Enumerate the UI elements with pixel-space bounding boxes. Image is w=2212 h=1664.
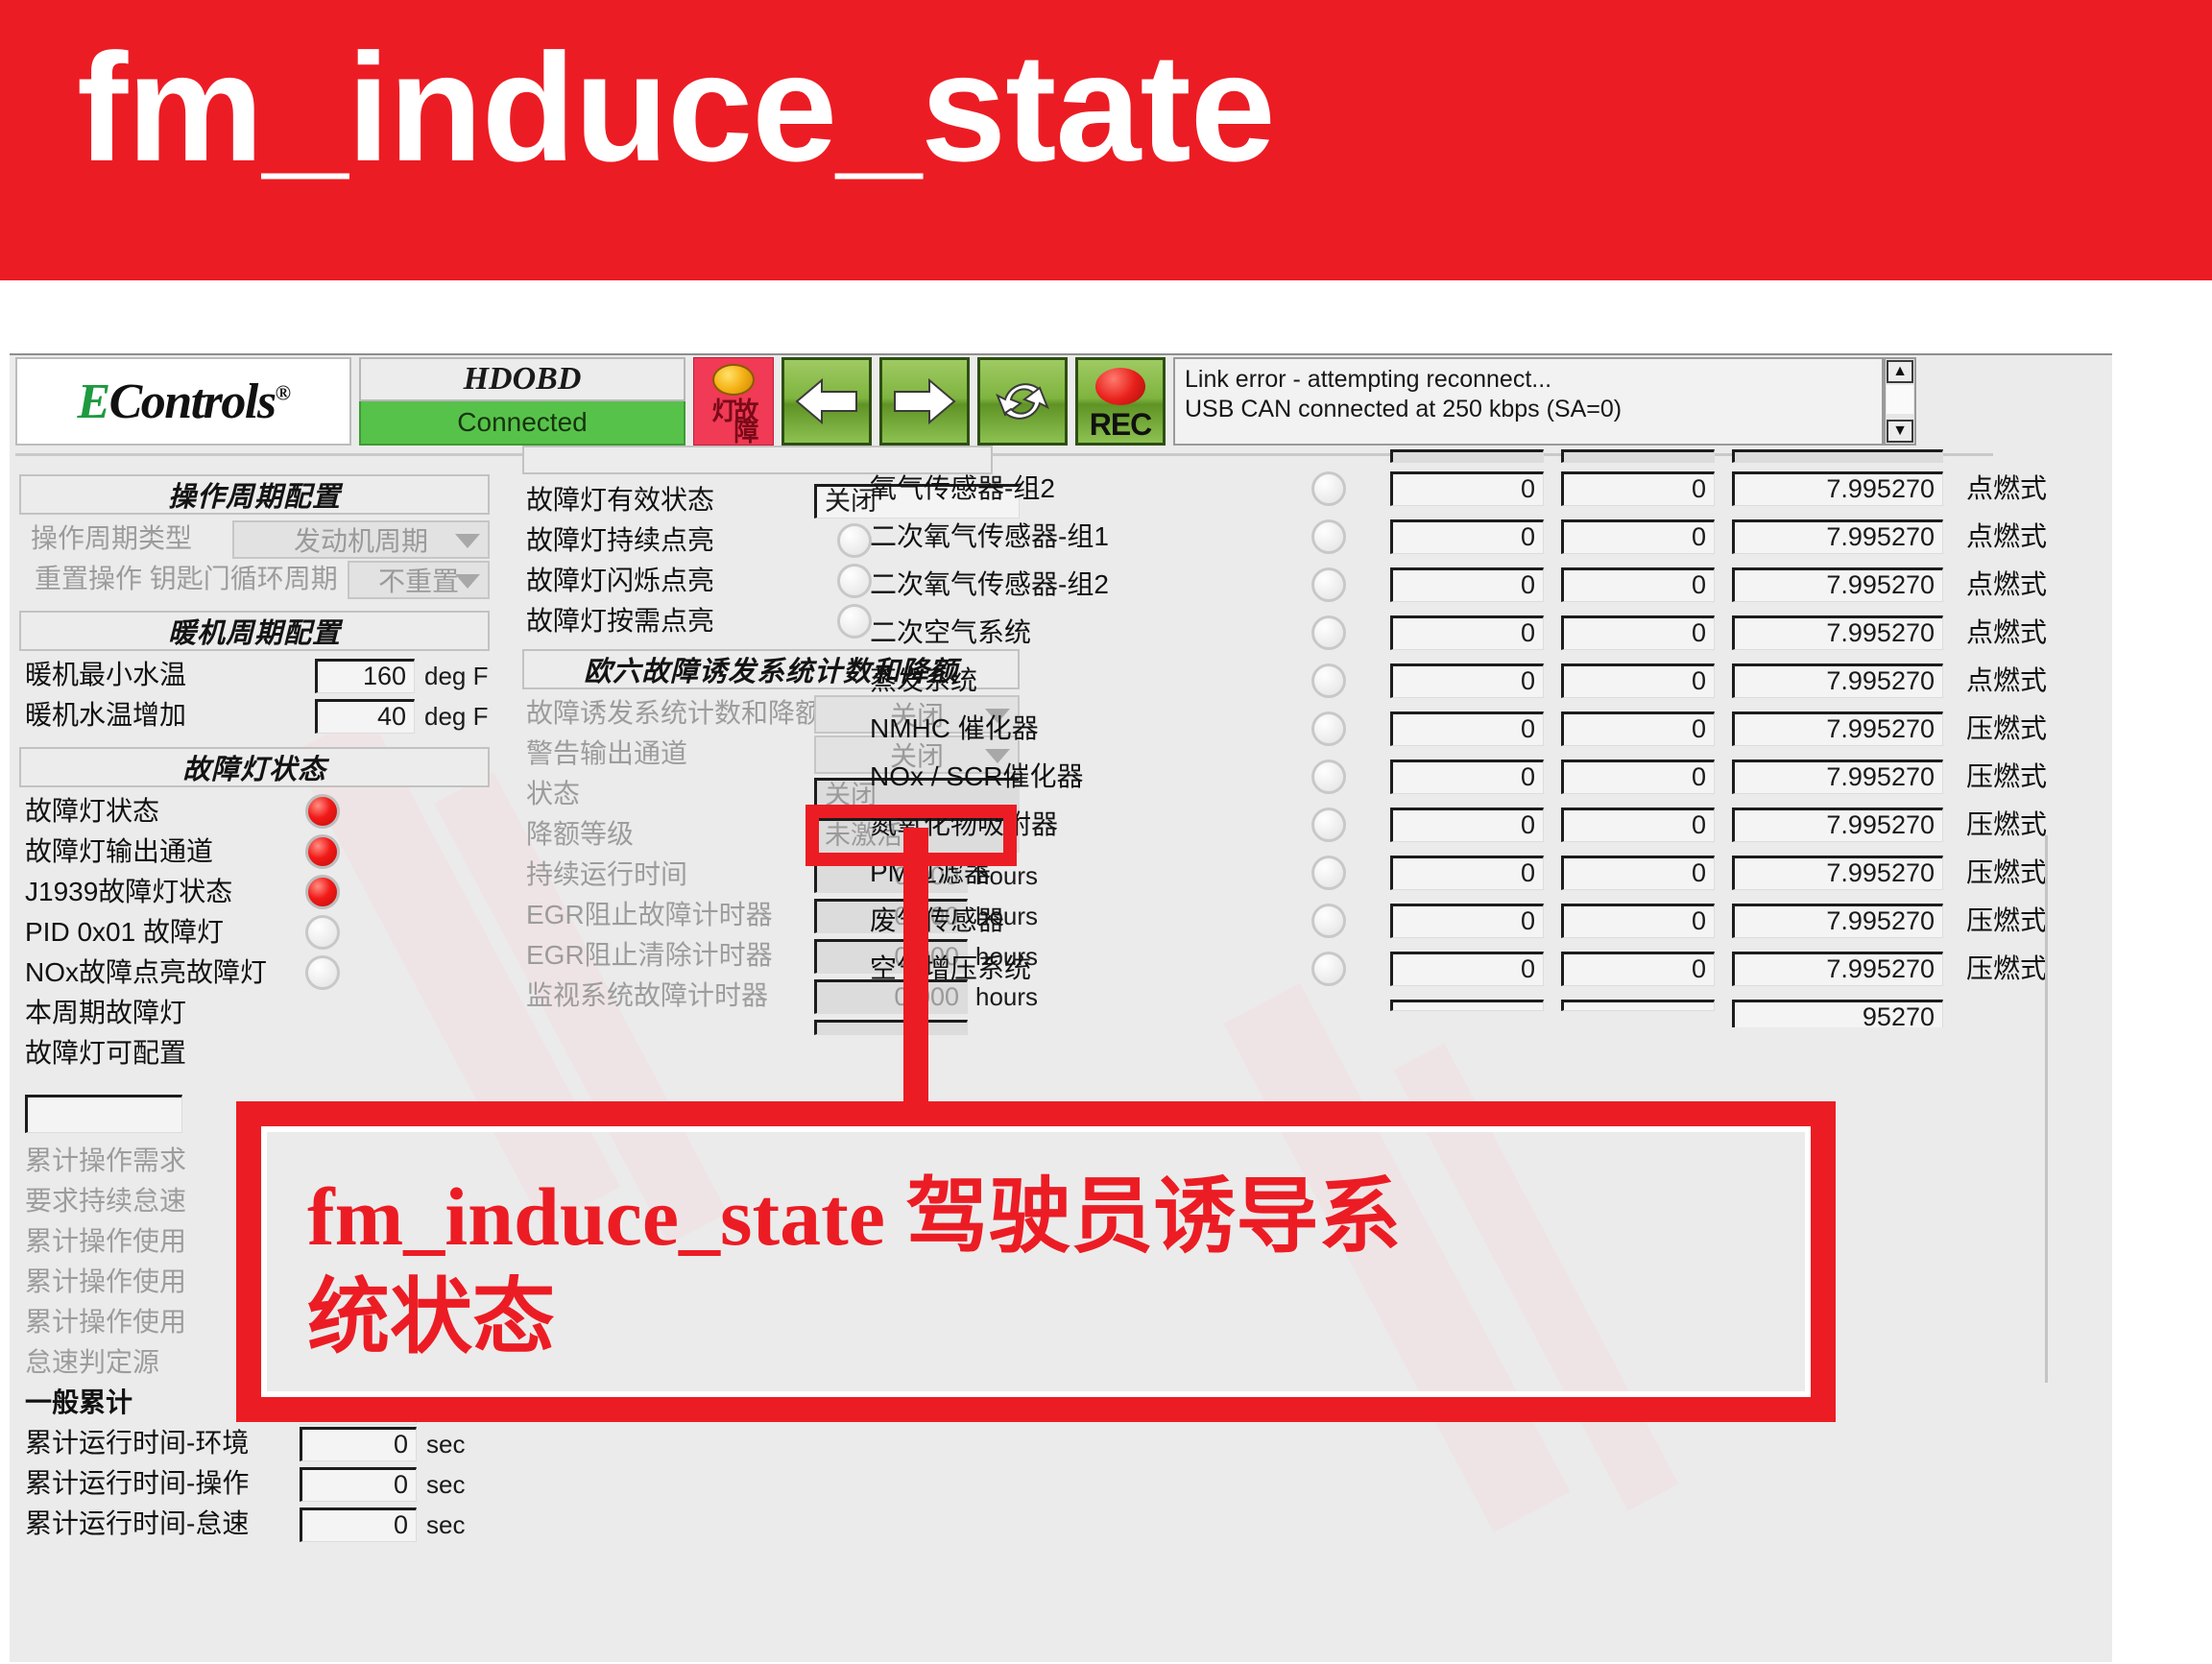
sensor-partial-input	[1390, 449, 1544, 463]
table-row: NMHC 催化器 0 0 7.995270 压燃式	[870, 705, 1964, 753]
sensor-count-2[interactable]: 0	[1561, 471, 1715, 506]
sensor-fuel-type: 压燃式	[1966, 753, 2047, 801]
mil-blink-led	[837, 564, 872, 598]
left-blank-input[interactable]	[25, 1095, 182, 1133]
sensor-fuel-type: 点燃式	[1966, 609, 2047, 657]
cumulative-label: 累计操作使用	[25, 1262, 186, 1302]
sensor-name: 二次氧气传感器-组1	[870, 513, 1109, 561]
sensor-count-1[interactable]: 0	[1390, 904, 1544, 938]
mil-row-label: 故障灯状态	[25, 791, 159, 832]
sensor-partial-input	[1561, 449, 1715, 463]
warn-output-channel-label: 警告输出通道	[526, 734, 687, 774]
record-button[interactable]: REC	[1075, 357, 1166, 446]
sensor-count-1[interactable]: 0	[1390, 808, 1544, 842]
annotation-line-2: 统状态	[307, 1267, 1805, 1368]
panel-divider	[2045, 835, 2048, 1383]
sensor-table: 氧气传感器-组2 0 0 7.995270 点燃式 二次氧气传感器-组1 0 0…	[870, 457, 2108, 1052]
table-row: 空气增压系统 0 0 7.995270 压燃式	[870, 945, 1964, 993]
timer-unit: sec	[426, 1507, 465, 1542]
sensor-status-led	[1311, 567, 1346, 602]
sensor-count-1[interactable]: 0	[1390, 567, 1544, 602]
annotation-line-1: fm_induce_state 驾驶员诱导系	[307, 1167, 1805, 1267]
timer-input[interactable]: 0	[300, 1467, 417, 1502]
sensor-status-led	[1311, 760, 1346, 794]
mil-row-label: NOx故障点亮故障灯	[25, 953, 267, 993]
sensor-ratio[interactable]: 7.995270	[1732, 952, 1943, 986]
timer-input[interactable]: 0	[300, 1507, 417, 1542]
sensor-name: NMHC 催化器	[870, 705, 1039, 753]
sensor-status-led	[1311, 471, 1346, 506]
drive-cycle-type-select[interactable]: 发动机周期	[232, 520, 490, 559]
sensor-fuel-type: 点燃式	[1966, 561, 2047, 609]
timer-unit: sec	[426, 1467, 465, 1502]
table-row: 废气传感器 0 0 7.995270 压燃式	[870, 897, 1964, 945]
connection-state-label: Connected	[359, 401, 685, 446]
refresh-icon	[992, 371, 1053, 432]
sensor-status-led	[1311, 615, 1346, 650]
mil-steady-label: 故障灯持续点亮	[526, 520, 714, 561]
mil-lamp-icon	[712, 364, 755, 396]
annotation-text: fm_induce_state 驾驶员诱导系 统状态	[307, 1167, 1805, 1368]
sensor-ratio[interactable]: 7.995270	[1732, 615, 1943, 650]
sensor-fuel-type: 点燃式	[1966, 465, 2047, 513]
sensor-ratio[interactable]: 7.995270	[1732, 808, 1943, 842]
annotation-callout: fm_induce_state 驾驶员诱导系 统状态	[236, 1101, 1836, 1422]
sensor-count-1[interactable]: 0	[1390, 711, 1544, 746]
sensor-fuel-type: 压燃式	[1966, 801, 2047, 849]
induce-state-label: 状态	[526, 774, 580, 814]
mil-row-led	[305, 794, 340, 829]
forward-button[interactable]	[879, 357, 970, 446]
timer-input[interactable]: 0	[300, 1427, 417, 1461]
mil-blink-label: 故障灯闪烁点亮	[526, 561, 714, 601]
mil-steady-led	[837, 523, 872, 558]
warmup-min-temp-unit: deg F	[424, 659, 489, 693]
sensor-status-led	[1311, 952, 1346, 986]
sensor-count-2[interactable]: 0	[1561, 904, 1715, 938]
general-cumulative-label: 一般累计	[25, 1383, 132, 1423]
hour-row-label: 监视系统故障计时器	[526, 976, 768, 1016]
mil-row-label: 故障灯输出通道	[25, 832, 213, 872]
hour-row-label: EGR阻止清除计时器	[526, 935, 773, 976]
sensor-fuel-type: 压燃式	[1966, 945, 2047, 993]
warmup-min-temp-label: 暖机最小水温	[25, 655, 186, 695]
scroll-down-icon[interactable]: ▼	[1887, 420, 1913, 443]
timer-label: 累计运行时间-操作	[25, 1463, 249, 1504]
hour-row-label: 持续运行时间	[526, 855, 687, 895]
hour-row-label: EGR阻止故障计时器	[526, 895, 773, 935]
record-dot-icon	[1095, 368, 1145, 405]
sensor-count-1[interactable]: 0	[1390, 519, 1544, 554]
application-window: EControls® HDOBD Connected 故障灯	[10, 353, 2112, 1662]
sensor-count-1[interactable]: 0	[1390, 471, 1544, 506]
mil-ondemand-label: 故障灯按需点亮	[526, 601, 714, 641]
warmup-min-temp-input[interactable]: 160	[315, 659, 415, 693]
mil-lamp-button[interactable]: 故障灯	[693, 357, 774, 446]
econtrols-logo: EControls®	[15, 357, 351, 446]
sensor-count-1[interactable]: 0	[1390, 856, 1544, 890]
mil-row-label: J1939故障灯状态	[25, 872, 232, 912]
table-row: 氮氧化物吸附器 0 0 7.995270 压燃式	[870, 801, 1964, 849]
sensor-fuel-type: 压燃式	[1966, 897, 2047, 945]
group-header-warmup: 暖机周期配置	[19, 611, 490, 651]
sensor-count-2[interactable]: 0	[1561, 567, 1715, 602]
table-row: 二次空气系统 0 0 7.995270 点燃式	[870, 609, 1964, 657]
group-header-mil-status: 故障灯状态	[19, 747, 490, 787]
protocol-label: HDOBD	[359, 357, 685, 401]
cumulative-label: 要求持续怠速	[25, 1181, 186, 1221]
sensor-name: 蒸发系统	[870, 657, 977, 705]
timer-unit: sec	[426, 1427, 465, 1461]
content-area: 操作周期配置 操作周期类型 发动机周期 重置操作 钥匙门循环周期 不重置 暖机周…	[10, 457, 2112, 1664]
cumulative-label: 累计操作使用	[25, 1302, 186, 1342]
mil-row-led	[305, 834, 340, 869]
sensor-count-2-partial	[1561, 1000, 1715, 1011]
table-row: PM过滤器 0 0 7.995270 压燃式	[870, 849, 1964, 897]
sensor-fuel-type: 压燃式	[1966, 705, 2047, 753]
mil-row-led	[305, 955, 340, 990]
page-title: fm_induce_state	[77, 23, 1275, 192]
sensor-ratio[interactable]: 7.995270	[1732, 663, 1943, 698]
chevron-down-icon	[455, 534, 480, 548]
warmup-temp-rise-label: 暖机水温增加	[25, 695, 186, 736]
sensor-status-led	[1311, 663, 1346, 698]
sensor-count-1[interactable]: 0	[1390, 663, 1544, 698]
derate-level-label: 降额等级	[526, 814, 634, 855]
sensor-count-1[interactable]: 0	[1390, 760, 1544, 794]
sensor-name: 废气传感器	[870, 897, 1004, 945]
sensor-name: 二次氧气传感器-组2	[870, 561, 1109, 609]
table-row: 二次氧气传感器-组1 0 0 7.995270 点燃式	[870, 513, 1964, 561]
timer-label: 累计运行时间-环境	[25, 1423, 249, 1463]
mil-row-label: PID 0x01 故障灯	[25, 912, 224, 953]
sensor-count-2[interactable]: 0	[1561, 519, 1715, 554]
sensor-count-1[interactable]: 0	[1390, 952, 1544, 986]
sensor-count-2[interactable]: 0	[1561, 952, 1715, 986]
sensor-count-2[interactable]: 0	[1561, 856, 1715, 890]
sensor-ratio[interactable]: 7.995270	[1732, 856, 1943, 890]
sensor-ratio[interactable]: 7.995270	[1732, 711, 1943, 746]
mil-row-led	[305, 875, 340, 909]
scrollbar-thumb[interactable]	[1887, 385, 1913, 414]
table-row: NOx / SCR催化器 0 0 7.995270 压燃式	[870, 753, 1964, 801]
connection-status-panel: HDOBD Connected	[359, 357, 685, 446]
sensor-ratio[interactable]: 7.995270	[1732, 567, 1943, 602]
table-row: 蒸发系统 0 0 7.995270 点燃式	[870, 657, 1964, 705]
sensor-status-led	[1311, 904, 1346, 938]
refresh-button[interactable]	[977, 357, 1068, 446]
sensor-status-led	[1311, 519, 1346, 554]
back-button[interactable]	[781, 357, 872, 446]
mil-row-label: 故障灯可配置	[25, 1033, 186, 1073]
logo-text: EControls®	[77, 374, 289, 430]
sensor-status-led	[1311, 856, 1346, 890]
arrow-left-icon	[793, 376, 860, 426]
sensor-ratio-partial: 95270	[1732, 1000, 1943, 1027]
table-row: 氧气传感器-组2 0 0 7.995270 点燃式	[870, 465, 1964, 513]
sensor-fuel-type: 压燃式	[1966, 849, 2047, 897]
mil-active-state-label: 故障灯有效状态	[526, 480, 714, 520]
sensor-ratio[interactable]: 7.995270	[1732, 471, 1943, 506]
sensor-count-2[interactable]: 0	[1561, 615, 1715, 650]
status-log: Link error - attempting reconnect... USB…	[1173, 357, 1884, 446]
sensor-count-2[interactable]: 0	[1561, 711, 1715, 746]
toolbar: EControls® HDOBD Connected 故障灯	[10, 355, 1987, 451]
mil-button-label: 故障灯	[711, 398, 756, 445]
sensor-count-2[interactable]: 0	[1561, 663, 1715, 698]
reset-drive-cycle-value: 不重置	[378, 561, 459, 599]
warmup-temp-rise-unit: deg F	[424, 699, 489, 734]
sensor-count-1-partial	[1390, 1000, 1544, 1011]
sensor-name: 空气增压系统	[870, 945, 1031, 993]
sensor-partial-input	[1732, 449, 1943, 463]
arrow-right-icon	[891, 376, 958, 426]
cumulative-label: 累计操作需求	[25, 1141, 186, 1181]
cumulative-label: 怠速判定源	[25, 1342, 159, 1383]
sensor-ratio[interactable]: 7.995270	[1732, 519, 1943, 554]
sensor-ratio[interactable]: 7.995270	[1732, 760, 1943, 794]
mil-row-led	[305, 915, 340, 950]
highlight-box-induce-state	[805, 805, 1017, 866]
reset-drive-cycle-select[interactable]: 不重置	[348, 561, 490, 599]
warmup-temp-rise-input[interactable]: 40	[315, 699, 415, 734]
cumulative-label: 累计操作使用	[25, 1221, 186, 1262]
sensor-name: 氧气传感器-组2	[870, 465, 1055, 513]
table-row: 二次氧气传感器-组2 0 0 7.995270 点燃式	[870, 561, 1964, 609]
sensor-count-1[interactable]: 0	[1390, 615, 1544, 650]
sensor-ratio[interactable]: 7.995270	[1732, 904, 1943, 938]
scroll-up-icon[interactable]: ▲	[1887, 360, 1913, 383]
sensor-status-led	[1311, 808, 1346, 842]
status-line-1: Link error - attempting reconnect...	[1185, 365, 1872, 395]
sensor-name: NOx / SCR催化器	[870, 753, 1083, 801]
drive-cycle-type-label: 操作周期类型	[31, 518, 192, 559]
annotation-callout-inner: fm_induce_state 驾驶员诱导系 统状态	[261, 1126, 1811, 1397]
sensor-count-2[interactable]: 0	[1561, 760, 1715, 794]
sensor-fuel-type: 点燃式	[1966, 657, 2047, 705]
title-banner: fm_induce_state	[0, 0, 2212, 280]
mil-ondemand-led	[837, 604, 872, 639]
drive-cycle-type-value: 发动机周期	[294, 520, 428, 559]
timer-label: 累计运行时间-怠速	[25, 1504, 249, 1544]
chevron-down-icon	[455, 574, 480, 589]
sensor-status-led	[1311, 711, 1346, 746]
sensor-count-2[interactable]: 0	[1561, 808, 1715, 842]
record-label: REC	[1090, 407, 1152, 443]
status-line-2: USB CAN connected at 250 kbps (SA=0)	[1185, 395, 1872, 424]
group-header-drive-cycle: 操作周期配置	[19, 474, 490, 515]
callout-connector-line	[903, 828, 928, 1106]
table-row-partial: 95270 压燃式	[870, 993, 1964, 1027]
reset-drive-cycle-label: 重置操作 钥匙门循环周期	[35, 559, 338, 599]
sensor-fuel-type: 点燃式	[1966, 513, 2047, 561]
sensor-name: 二次空气系统	[870, 609, 1031, 657]
induce-count-label: 故障诱发系统计数和降额	[526, 693, 822, 734]
mil-row-label: 本周期故障灯	[25, 993, 186, 1033]
status-log-scrollbar[interactable]: ▲ ▼	[1884, 357, 1916, 446]
